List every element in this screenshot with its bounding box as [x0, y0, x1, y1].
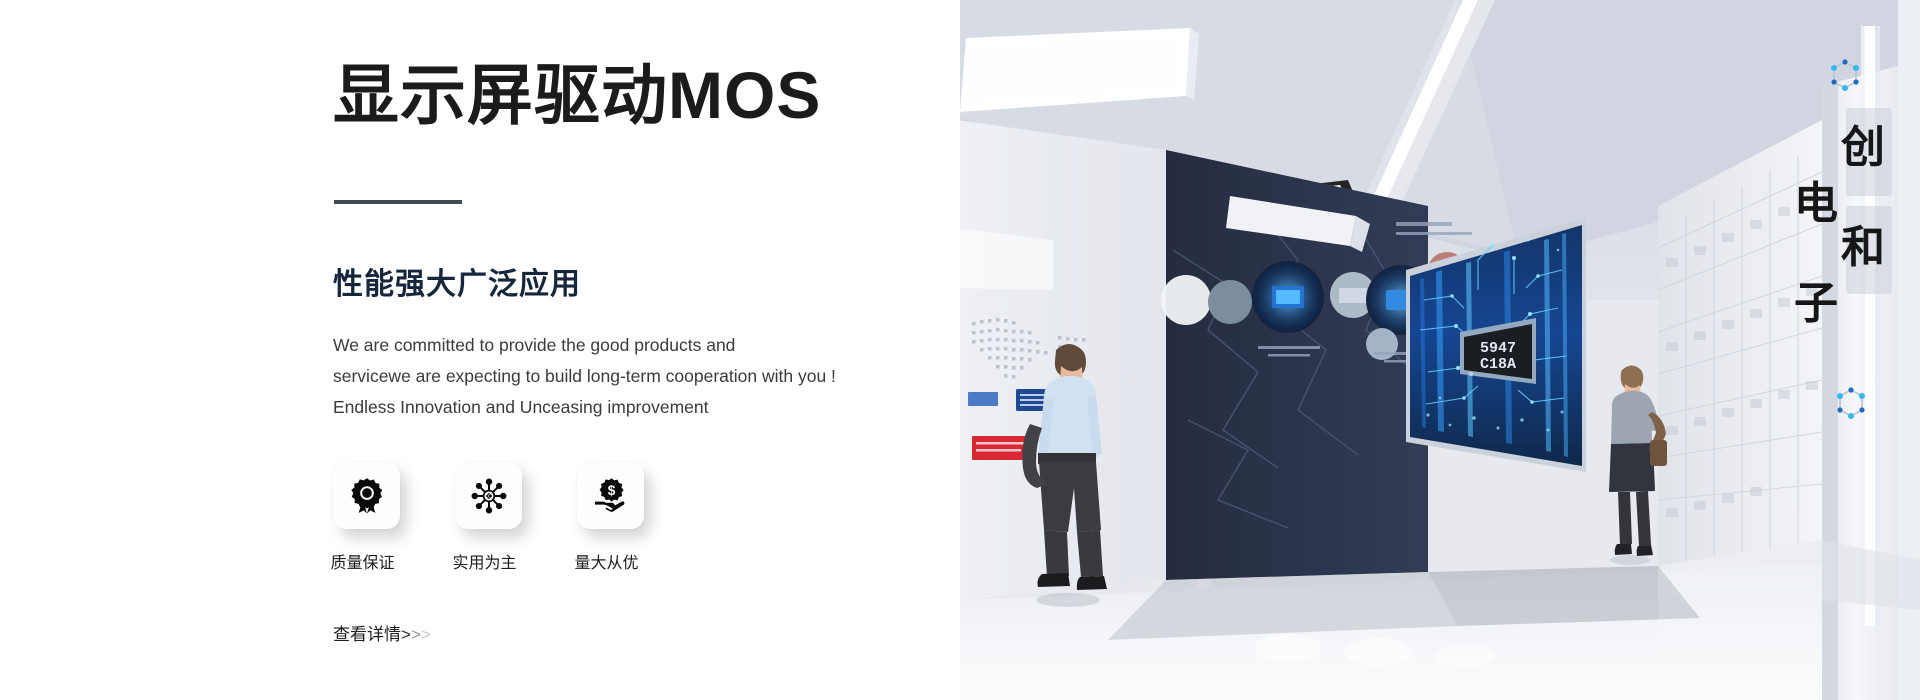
paragraph-line-3: Endless Innovation and Unceasing improve…: [333, 392, 893, 423]
feature-icon-card[interactable]: $: [577, 462, 644, 529]
showroom-photo: 5947 C18A: [958, 0, 1920, 700]
award-medal-icon: [348, 477, 386, 515]
feature-list: 质量保证: [333, 462, 644, 573]
network-hub-icon: [470, 477, 508, 515]
feature-item-bulk-discount[interactable]: $ 量大从优: [577, 462, 644, 573]
chevron-3-icon: >: [421, 625, 431, 645]
feature-icon-card[interactable]: [455, 462, 522, 529]
view-details-label: 查看详情: [333, 620, 401, 645]
chevron-1-icon: >: [401, 625, 411, 645]
feature-item-quality[interactable]: 质量保证: [333, 462, 400, 573]
hero-banner: 显示屏驱动MOS 性能强大广泛应用 We are committed to pr…: [0, 0, 1920, 700]
chevron-2-icon: >: [411, 625, 421, 645]
banner-paragraph: We are committed to provide the good pro…: [333, 330, 893, 423]
svg-text:$: $: [607, 482, 615, 497]
feature-label: 量大从优: [569, 549, 644, 573]
banner-subtitle: 性能强大广泛应用: [333, 270, 581, 300]
title-divider: [334, 200, 462, 204]
feature-label: 质量保证: [325, 549, 400, 573]
view-details-link[interactable]: 查看详情>>>: [333, 620, 431, 645]
paragraph-line-2: servicewe are expecting to build long-te…: [333, 361, 893, 392]
feature-item-practical[interactable]: 实用为主: [455, 462, 522, 573]
page-title: 显示屏驱动MOS: [333, 62, 821, 128]
paragraph-line-1: We are committed to provide the good pro…: [333, 330, 893, 361]
feature-icon-card[interactable]: [333, 462, 400, 529]
banner-text-panel: 显示屏驱动MOS 性能强大广泛应用 We are committed to pr…: [0, 0, 960, 700]
showroom-illustration: 5947 C18A: [958, 0, 1920, 700]
feature-label: 实用为主: [447, 549, 522, 573]
hand-money-icon: $: [592, 477, 630, 515]
